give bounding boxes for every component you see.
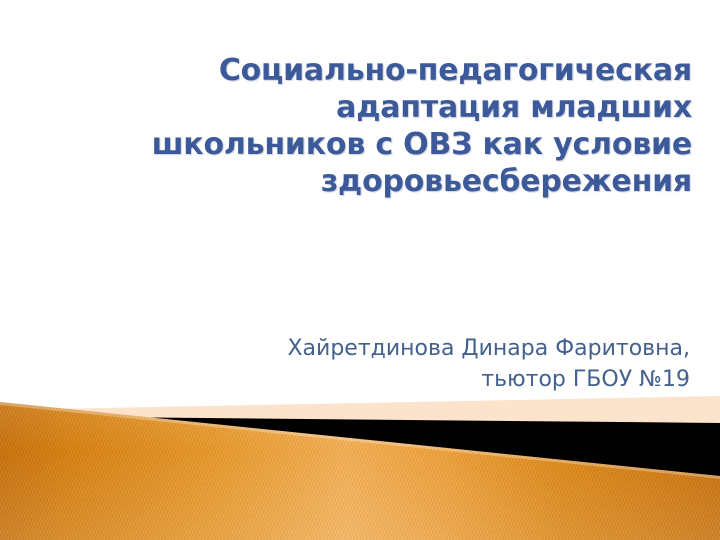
title-line-1: Социально-педагогическая	[40, 52, 692, 89]
title-line-3: школьников с ОВЗ как условие	[40, 126, 692, 163]
title-line-4: здоровьесбережения	[40, 163, 692, 200]
footer-decoration-shapes	[0, 380, 720, 540]
subtitle-author-line: Хайретдинова Динара Фаритовна,	[40, 333, 690, 364]
title-line-2: адаптация младших	[40, 89, 692, 126]
slide-canvas: Социально-педагогическая адаптация младш…	[0, 0, 720, 540]
slide-title: Социально-педагогическая адаптация младш…	[40, 52, 692, 200]
footer-decoration	[0, 380, 720, 540]
